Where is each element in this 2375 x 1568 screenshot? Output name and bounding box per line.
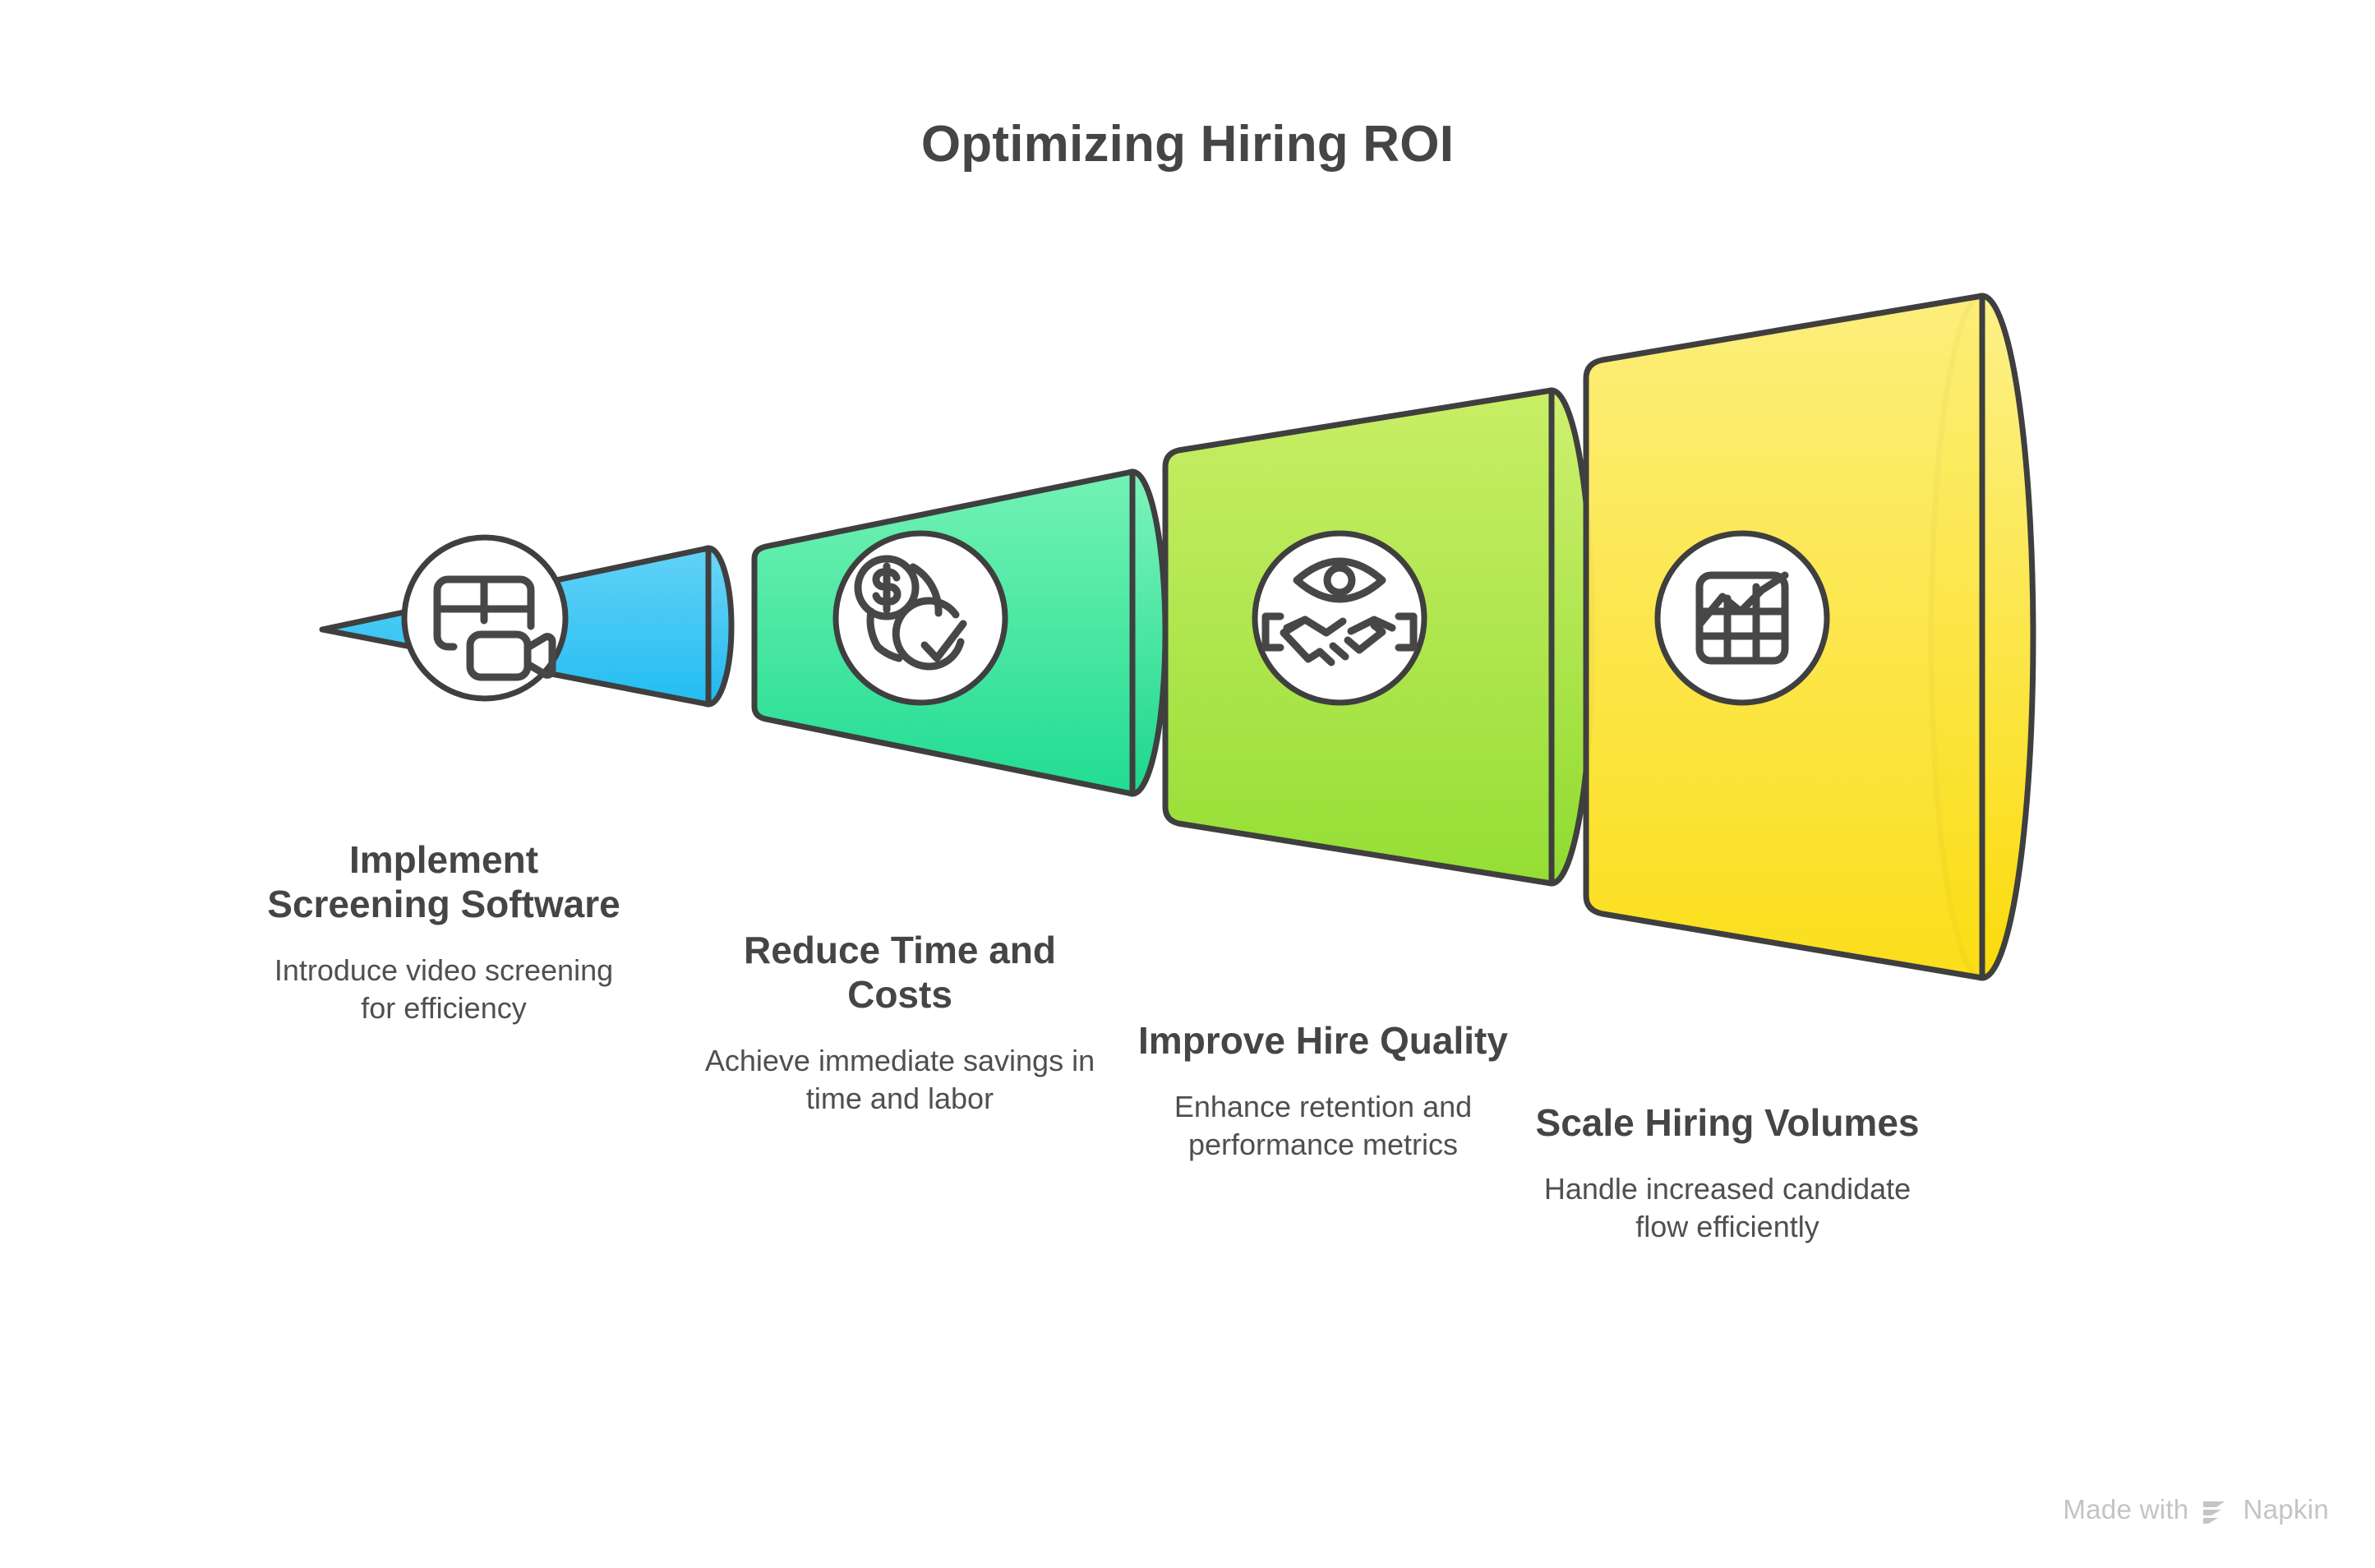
napkin-logo-icon (2200, 1497, 2231, 1528)
cost-savings-icon (858, 559, 963, 666)
made-with-label: Made with (2063, 1494, 2188, 1525)
funnel-segment-4[interactable] (1586, 296, 2033, 978)
funnel-graphic (0, 0, 2375, 1568)
napkin-brand-label: Napkin (2243, 1494, 2329, 1525)
diagram-canvas: Optimizing Hiring ROI (0, 0, 2375, 1568)
video-screening-icon (437, 579, 552, 677)
icon-badge-3[interactable] (1255, 533, 1424, 703)
analytics-growth-icon (1699, 575, 1785, 661)
icon-badge-4[interactable] (1658, 533, 1827, 703)
funnel-segment-3[interactable] (1165, 390, 1593, 883)
icon-badge-1[interactable] (404, 537, 565, 699)
made-with-napkin-footer[interactable]: Made with Napkin (2063, 1494, 2329, 1525)
stage-description-4: Handle increased candidate flow efficien… (1530, 1170, 1925, 1246)
funnel-segment-1[interactable] (322, 548, 731, 704)
stage-caption-3: Improve Hire Quality Enhance retention a… (1130, 1019, 1516, 1164)
page-title: Optimizing Hiring ROI (0, 115, 2375, 173)
stage-caption-2: Reduce Time and Costs Achieve immediate … (703, 929, 1097, 1118)
stage-title-4: Scale Hiring Volumes (1530, 1101, 1925, 1146)
icon-badge-2[interactable] (836, 533, 1005, 703)
stage-caption-4: Scale Hiring Volumes Handle increased ca… (1530, 1101, 1925, 1246)
stage-title-1: Implement Screening Software (255, 838, 633, 927)
stage-title-3: Improve Hire Quality (1130, 1019, 1516, 1063)
stage-description-2: Achieve immediate savings in time and la… (703, 1042, 1097, 1118)
stage-caption-1: Implement Screening Software Introduce v… (255, 838, 633, 1027)
quality-hire-icon (1266, 561, 1413, 662)
stage-title-2: Reduce Time and Costs (703, 929, 1097, 1017)
stage-description-3: Enhance retention and performance metric… (1130, 1088, 1516, 1164)
funnel-segment-2[interactable] (754, 472, 1165, 794)
stage-description-1: Introduce video screening for efficiency (255, 952, 633, 1027)
